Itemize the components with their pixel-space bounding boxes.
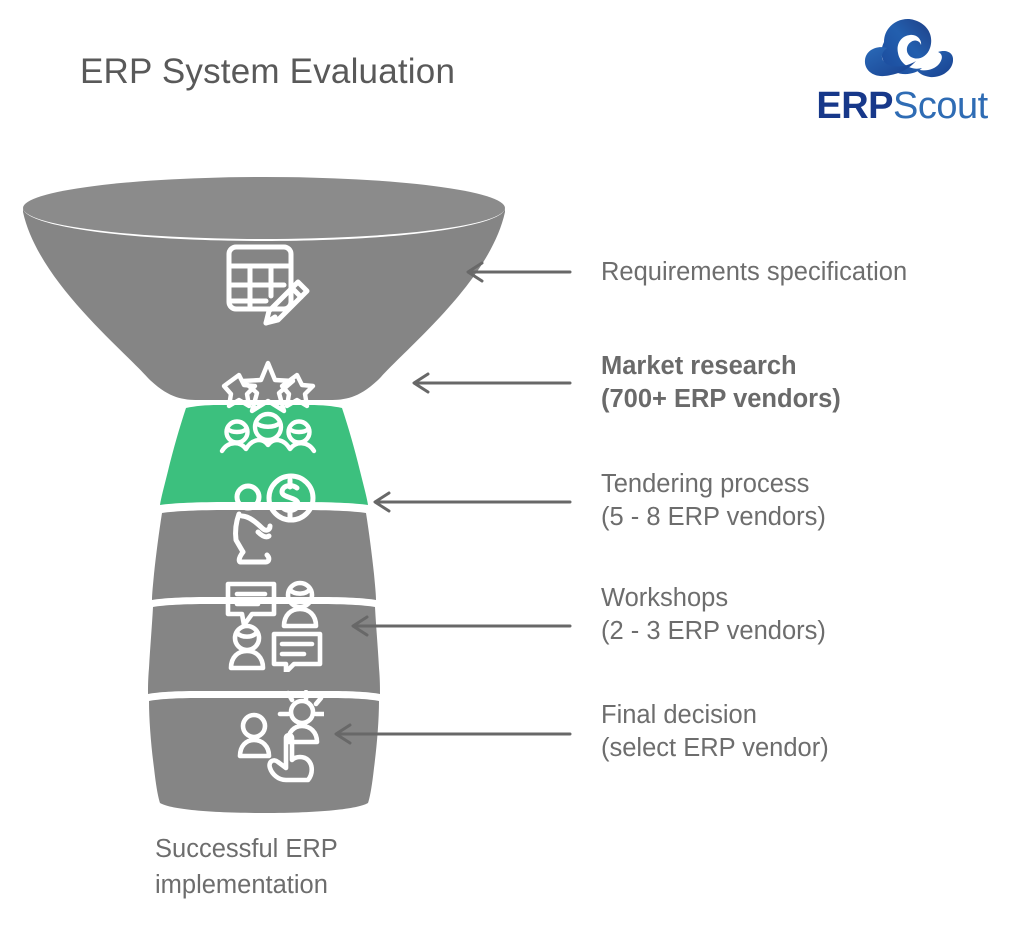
connector-arrow-3 <box>369 490 572 514</box>
stage-label-final-decision: Final decision (select ERP vendor) <box>601 699 829 765</box>
funnel-segment-2 <box>160 405 368 505</box>
funnel-outcome-caption: Successful ERP implementation <box>155 831 338 903</box>
brand-wordmark: ERPScout <box>802 84 1002 128</box>
brand-name-primary: ERP <box>816 85 893 127</box>
brand-name-secondary: Scout <box>893 85 988 127</box>
connector-arrow-5 <box>330 722 572 746</box>
funnel-segment-4 <box>148 604 380 694</box>
funnel-segment-5 <box>149 698 379 813</box>
stage-label-workshops: Workshops (2 - 3 ERP vendors) <box>601 582 826 648</box>
funnel-rim <box>23 177 505 239</box>
stage-label-requirements-specification: Requirements specification <box>601 256 907 289</box>
connector-arrow-2 <box>408 371 572 395</box>
stage-label-tendering-process: Tendering process (5 - 8 ERP vendors) <box>601 468 826 534</box>
page-title: ERP System Evaluation <box>80 52 455 92</box>
funnel-segment-3 <box>152 510 376 600</box>
cloud-swirl-icon <box>854 12 964 84</box>
connector-arrow-1 <box>462 260 572 284</box>
stage-label-market-research: Market research (700+ ERP vendors) <box>601 350 841 416</box>
brand-logo: ERPScout <box>802 12 1002 132</box>
connector-arrow-4 <box>347 614 572 638</box>
